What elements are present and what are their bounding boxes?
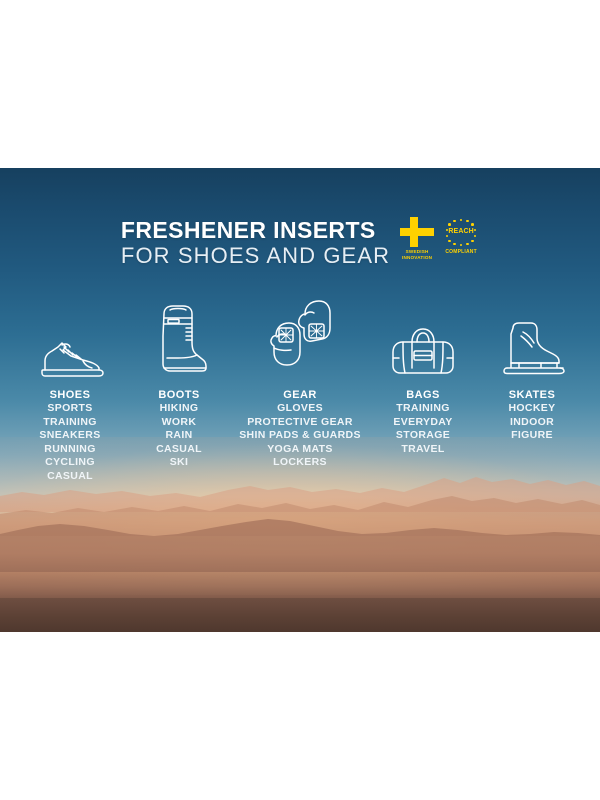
list-item: SPORTS <box>39 402 100 416</box>
list-item: LOCKERS <box>239 456 361 470</box>
list-item: TRAINING <box>39 416 100 430</box>
list-item: FIGURE <box>508 429 555 443</box>
category-title-shoes: SHOES <box>50 388 91 402</box>
list-item: GLOVES <box>239 402 361 416</box>
category-skates[interactable]: SKATES HOCKEY INDOOR FIGURE <box>482 296 582 443</box>
badge-reach-mark: REACH <box>444 228 478 236</box>
list-item: PROTECTIVE GEAR <box>239 416 361 430</box>
badge-reach-caption: COMPLIANT <box>445 249 477 255</box>
page-title-line2: FOR SHOES AND GEAR <box>121 243 390 269</box>
list-item: RAIN <box>156 429 202 443</box>
boot-icon <box>148 296 210 378</box>
list-item: SKI <box>156 456 202 470</box>
ice-skate-icon <box>497 296 567 378</box>
category-gear[interactable]: GEAR GLOVES PROTECTIVE GEAR SHIN PADS & … <box>236 296 364 470</box>
category-row: SHOES SPORTS TRAINING SNEAKERS RUNNING C… <box>18 296 582 483</box>
category-list-boots: HIKING WORK RAIN CASUAL SKI <box>156 402 202 470</box>
category-list-gear: GLOVES PROTECTIVE GEAR SHIN PADS & GUARD… <box>239 402 361 470</box>
category-title-boots: BOOTS <box>158 388 199 402</box>
category-title-bags: BAGS <box>406 388 440 402</box>
list-item: SNEAKERS <box>39 429 100 443</box>
swedish-flag-icon <box>400 217 434 247</box>
badge-swedish-caption-line2: INNOVATION <box>402 255 432 260</box>
category-boots[interactable]: BOOTS HIKING WORK RAIN CASUAL SKI <box>129 296 229 470</box>
list-item: HOCKEY <box>508 402 555 416</box>
boxing-gloves-icon <box>267 296 333 378</box>
category-list-shoes: SPORTS TRAINING SNEAKERS RUNNING CYCLING… <box>39 402 100 483</box>
category-shoes[interactable]: SHOES SPORTS TRAINING SNEAKERS RUNNING C… <box>18 296 122 483</box>
badge-swedish-caption: SWEDISH INNOVATION <box>402 249 432 261</box>
list-item: CASUAL <box>39 470 100 484</box>
duffel-bag-icon <box>387 296 459 378</box>
headline-row: FRESHENER INSERTS FOR SHOES AND GEAR SWE… <box>0 216 600 269</box>
category-title-gear: GEAR <box>283 388 317 402</box>
list-item: RUNNING <box>39 443 100 457</box>
category-title-skates: SKATES <box>509 388 556 402</box>
category-bags[interactable]: BAGS TRAINING EVERYDAY STORAGE TRAVEL <box>371 296 475 456</box>
list-item: INDOOR <box>508 416 555 430</box>
category-list-bags: TRAINING EVERYDAY STORAGE TRAVEL <box>393 402 452 456</box>
badge-swedish-innovation: SWEDISH INNOVATION <box>399 217 435 265</box>
list-item: STORAGE <box>393 429 452 443</box>
list-item: TRAINING <box>393 402 452 416</box>
headline-text: FRESHENER INSERTS FOR SHOES AND GEAR <box>121 216 390 269</box>
list-item: TRAVEL <box>393 443 452 457</box>
list-item: WORK <box>156 416 202 430</box>
list-item: CYCLING <box>39 456 100 470</box>
category-list-skates: HOCKEY INDOOR FIGURE <box>508 402 555 443</box>
badge-group: SWEDISH INNOVATION <box>399 216 479 265</box>
list-item: HIKING <box>156 402 202 416</box>
eu-stars-icon: REACH <box>444 217 478 247</box>
list-item: SHIN PADS & GUARDS <box>239 429 361 443</box>
list-item: YOGA MATS <box>239 443 361 457</box>
banner-image: FRESHENER INSERTS FOR SHOES AND GEAR SWE… <box>0 168 600 632</box>
badge-swedish-caption-line1: SWEDISH <box>406 249 429 254</box>
banner-content: FRESHENER INSERTS FOR SHOES AND GEAR SWE… <box>0 168 600 632</box>
badge-reach-compliant: REACH COMPLIANT <box>443 217 479 265</box>
page-title-line1: FRESHENER INSERTS <box>121 218 376 243</box>
list-item: EVERYDAY <box>393 416 452 430</box>
list-item: CASUAL <box>156 443 202 457</box>
sneaker-icon <box>33 296 107 378</box>
